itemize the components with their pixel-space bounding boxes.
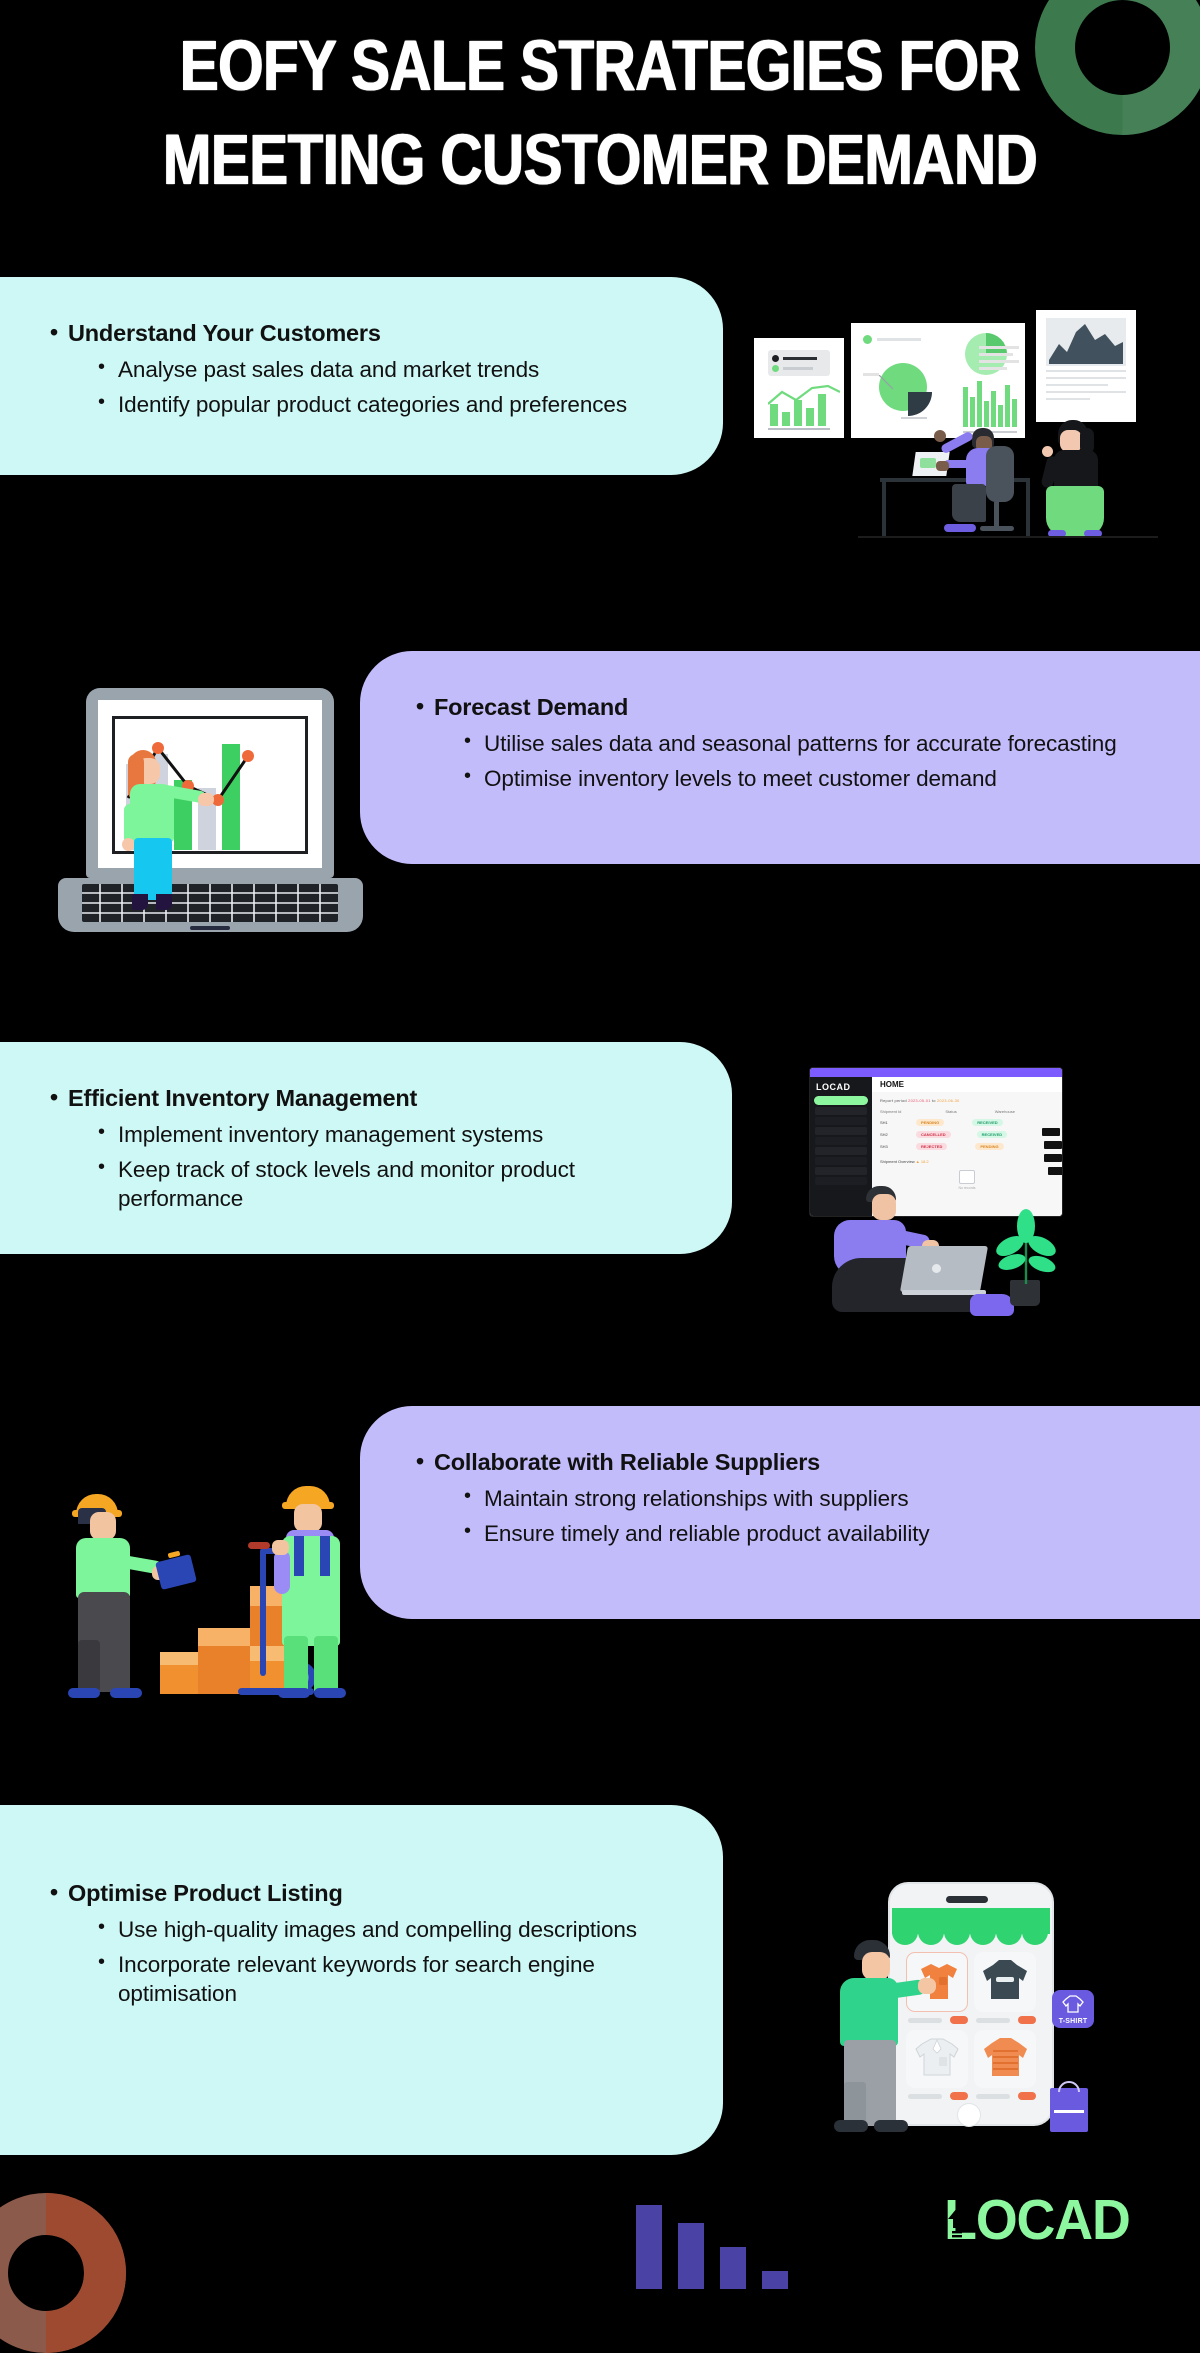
section-heading: Efficient Inventory Management xyxy=(50,1084,692,1113)
card-collaborate-with-reliable-suppliers: Collaborate with Reliable Suppliers Main… xyxy=(360,1406,1200,1619)
sidebar-logo: LOCAD xyxy=(810,1077,872,1096)
tshirt-badge-label: T-SHIRT xyxy=(1052,2018,1094,2025)
sidebar-item-products[interactable] xyxy=(815,1127,867,1135)
locad-logo: LOCAD xyxy=(964,2198,1130,2253)
dashboard-sidebar[interactable]: LOCAD xyxy=(810,1077,872,1216)
card-efficient-inventory-management: Efficient Inventory Management Implement… xyxy=(0,1042,732,1254)
card-understand-your-customers: Understand Your Customers Analyse past s… xyxy=(0,277,723,475)
sidebar-item-reports[interactable] xyxy=(815,1137,867,1145)
row-action-button[interactable] xyxy=(1044,1154,1062,1162)
sidebar-item-home[interactable] xyxy=(814,1096,868,1105)
empty-state: No records xyxy=(880,1170,1054,1190)
card-optimise-product-listing: Optimise Product Listing Use high-qualit… xyxy=(0,1805,723,2155)
sidebar-item-users[interactable] xyxy=(815,1147,867,1155)
hand-truck xyxy=(260,1550,266,1676)
buy-button xyxy=(1018,2016,1036,2024)
laptop xyxy=(900,1246,988,1292)
plant-leaves xyxy=(996,1206,1060,1286)
warehouse-badge: PENDING xyxy=(975,1143,1003,1150)
table-row: SH3 REJECTED PENDING xyxy=(880,1143,1054,1150)
section-bullet: Identify popular product categories and … xyxy=(96,391,683,420)
warehouse-workers-illustration xyxy=(48,1440,358,1740)
product-card[interactable] xyxy=(974,1952,1036,2012)
dashboard-window: LOCAD HOME Report period 2023-05-01 to 2… xyxy=(810,1068,1062,1216)
section-heading: Optimise Product Listing xyxy=(50,1879,683,1908)
status-badge: CANCELLED xyxy=(916,1131,951,1138)
row-action-button[interactable] xyxy=(1048,1167,1062,1175)
table-header: Status xyxy=(945,1109,956,1114)
card-forecast-demand: Forecast Demand Utilise sales data and s… xyxy=(360,651,1200,864)
section-bullet: Optimise inventory levels to meet custom… xyxy=(462,765,1170,794)
worker-face xyxy=(294,1504,322,1532)
status-badge: PENDING xyxy=(916,1119,944,1126)
infographic-canvas: EOFY SALE STRATEGIES FOR MEETING CUSTOME… xyxy=(0,0,1200,2288)
row-action-button[interactable] xyxy=(1042,1128,1060,1136)
warehouse-badge: RECEIVED xyxy=(977,1131,1007,1138)
worker-overalls xyxy=(282,1536,340,1646)
chart-board-small xyxy=(754,338,844,438)
table-row: SH2 CANCELLED RECEIVED xyxy=(880,1131,1054,1138)
warehouse-badge: RECEIVED xyxy=(972,1119,1002,1126)
locad-logo-text: LOCAD xyxy=(944,2188,1130,2253)
section-bullet: Maintain strong relationships with suppl… xyxy=(462,1485,1170,1514)
laptop-growth-chart-illustration xyxy=(58,688,368,963)
sidebar-item-orders[interactable] xyxy=(815,1117,867,1125)
section-bullet: Analyse past sales data and market trend… xyxy=(96,356,683,385)
section-heading: Understand Your Customers xyxy=(50,319,683,348)
section-heading: Collaborate with Reliable Suppliers xyxy=(416,1448,1170,1477)
row-action-button[interactable] xyxy=(1044,1141,1062,1149)
empty-state-label: No records xyxy=(880,1186,1054,1190)
dashboard-main: HOME Report period 2023-05-01 to 2023-06… xyxy=(872,1077,1062,1216)
tshirt-badge: T-SHIRT xyxy=(1052,1990,1094,2028)
sidebar-item-billing[interactable] xyxy=(815,1167,867,1175)
locad-dashboard-illustration: LOCAD HOME Report period 2023-05-01 to 2… xyxy=(810,1068,1070,1388)
chart-board-large xyxy=(851,323,1025,438)
row-id: SH1 xyxy=(880,1120,908,1125)
row-id: SH3 xyxy=(880,1144,908,1149)
sidebar-item-warehouse[interactable] xyxy=(815,1107,867,1115)
buy-button xyxy=(1018,2092,1036,2100)
buy-button xyxy=(950,2092,968,2100)
section-bullet: Implement inventory management systems xyxy=(96,1121,692,1150)
section-bullet: Ensure timely and reliable product avail… xyxy=(462,1520,1170,1549)
shoe xyxy=(970,1294,1014,1316)
product-card[interactable] xyxy=(974,2030,1036,2088)
mobile-storefront-illustration: T-SHIRT xyxy=(818,1842,1118,2142)
section-bullet: Utilise sales data and seasonal patterns… xyxy=(462,730,1170,759)
title-line-2: MEETING CUSTOMER DEMAND xyxy=(0,122,1200,199)
table-header: Warehouse xyxy=(995,1109,1015,1114)
shopper-face xyxy=(862,1952,890,1980)
row-id: SH2 xyxy=(880,1132,908,1137)
footer-bar-decoration xyxy=(636,2205,846,2289)
product-card[interactable] xyxy=(906,2030,968,2088)
phone-home-button[interactable] xyxy=(958,2104,980,2126)
table-header: Shipment Id xyxy=(880,1109,901,1114)
buy-button xyxy=(950,2016,968,2024)
clipboard xyxy=(155,1554,197,1590)
section-bullet: Use high-quality images and compelling d… xyxy=(96,1916,683,1945)
section-bullet: Incorporate relevant keywords for search… xyxy=(96,1951,683,2009)
window-titlebar xyxy=(810,1068,1062,1077)
chart-board-right xyxy=(1036,310,1136,422)
worker-face xyxy=(90,1512,116,1540)
shop-awning xyxy=(892,1908,1050,1934)
table-row: SH1 PENDING RECEIVED xyxy=(880,1119,1054,1126)
status-badge: REJECTED xyxy=(916,1143,947,1150)
title-line-1: EOFY SALE STRATEGIES FOR xyxy=(0,28,1200,105)
chair xyxy=(986,446,1014,502)
team-analysing-dashboards-illustration xyxy=(748,278,1200,528)
sidebar-item-shipments[interactable] xyxy=(815,1157,867,1165)
dashboard-page-title: HOME xyxy=(872,1077,1062,1092)
section-heading: Forecast Demand xyxy=(416,693,1170,722)
page-title: EOFY SALE STRATEGIES FOR MEETING CUSTOME… xyxy=(0,28,1200,181)
sidebar-item-support[interactable] xyxy=(815,1177,867,1185)
upload-arrow-icon xyxy=(947,2208,967,2242)
section-bullet: Keep track of stock levels and monitor p… xyxy=(96,1156,692,1214)
